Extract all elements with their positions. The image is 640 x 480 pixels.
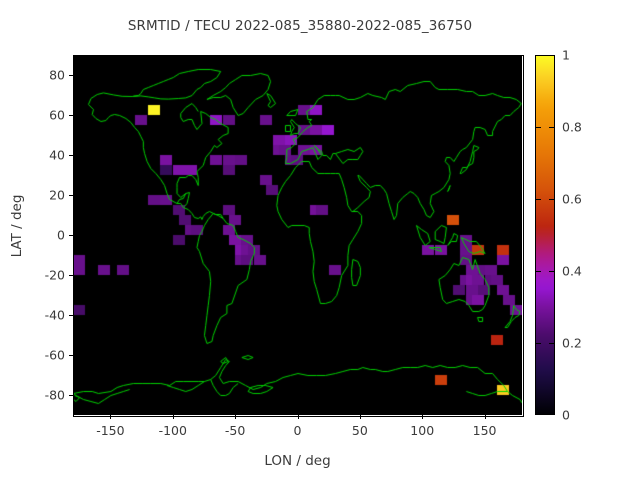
coastline-layer <box>73 55 522 415</box>
x-tick-mark <box>110 415 111 419</box>
y-tick-mark <box>69 115 73 116</box>
y-tick-label: 20 <box>21 188 65 203</box>
x-tick-label: 150 <box>473 423 497 438</box>
colorbar-tick-mark <box>536 271 541 272</box>
x-tick-mark <box>235 415 236 419</box>
x-tick-mark <box>360 415 361 419</box>
y-tick-label: -40 <box>21 308 65 323</box>
y-tick-mark <box>69 395 73 396</box>
x-tick-label: 100 <box>410 423 434 438</box>
x-axis-label: LON / deg <box>73 453 522 469</box>
x-tick-label: 50 <box>352 423 368 438</box>
colorbar-tick-label: 0.4 <box>562 264 582 279</box>
y-tick-label: 0 <box>21 228 65 243</box>
x-tick-label: 0 <box>294 423 302 438</box>
colorbar[interactable] <box>535 55 555 415</box>
colorbar-tick-mark <box>549 199 554 200</box>
x-tick-label: -100 <box>159 423 187 438</box>
colorbar-tick-label: 0.2 <box>562 336 582 351</box>
y-tick-mark <box>69 315 73 316</box>
y-tick-mark <box>69 195 73 196</box>
x-tick-mark <box>422 415 423 419</box>
x-tick-mark <box>485 415 486 419</box>
y-tick-mark <box>69 75 73 76</box>
colorbar-tick-mark <box>549 343 554 344</box>
y-tick-label: -60 <box>21 348 65 363</box>
y-tick-label: 40 <box>21 148 65 163</box>
y-tick-mark <box>69 235 73 236</box>
colorbar-tick-label: 0 <box>562 408 570 423</box>
y-tick-label: 80 <box>21 68 65 83</box>
y-axis-label: LAT / deg <box>9 176 25 276</box>
y-tick-mark <box>69 275 73 276</box>
y-tick-label: -20 <box>21 268 65 283</box>
x-tick-label: -50 <box>225 423 245 438</box>
colorbar-tick-label: 1 <box>562 48 570 63</box>
colorbar-tick-mark <box>536 199 541 200</box>
colorbar-tick-label: 0.8 <box>562 120 582 135</box>
x-tick-mark <box>173 415 174 419</box>
colorbar-tick-mark <box>536 343 541 344</box>
figure-root: SRMTID / TECU 2022-085_35880-2022-085_36… <box>0 0 640 480</box>
map-heatmap-axes[interactable] <box>73 55 522 415</box>
colorbar-tick-mark <box>549 271 554 272</box>
y-tick-label: -80 <box>21 388 65 403</box>
colorbar-tick-label: 0.6 <box>562 192 582 207</box>
x-tick-mark <box>298 415 299 419</box>
colorbar-tick-mark <box>536 127 541 128</box>
y-tick-mark <box>69 155 73 156</box>
colorbar-tick-mark <box>549 127 554 128</box>
colorbar-gradient <box>536 56 554 414</box>
x-tick-label: -150 <box>96 423 124 438</box>
y-tick-label: 60 <box>21 108 65 123</box>
y-tick-mark <box>69 355 73 356</box>
page-title: SRMTID / TECU 2022-085_35880-2022-085_36… <box>0 18 600 34</box>
